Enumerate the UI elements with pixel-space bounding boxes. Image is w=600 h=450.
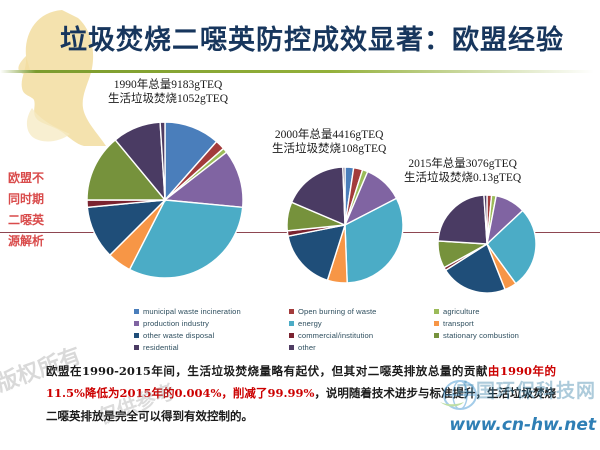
page-title: 垃圾焚烧二噁英防控成效显著：欧盟经验 — [60, 18, 564, 57]
left-label-line-4: 源解析 — [8, 231, 70, 252]
legend-column-3: agriculturetransportstationary combustio… — [434, 305, 584, 342]
legend-column-2: Open burning of wasteenergycommercial/in… — [289, 305, 439, 354]
legend-swatch-icon — [289, 333, 294, 338]
legend-item-label: other waste disposal — [143, 331, 214, 340]
chart-legend: municipal waste incinerationproduction i… — [134, 305, 584, 357]
legend-swatch-icon — [289, 321, 294, 326]
legend-item: residential — [134, 342, 294, 354]
pie-chart-1990 — [86, 121, 244, 279]
chart1-caption-line1: 1990年总量9183gTEQ — [108, 78, 228, 92]
pie-svg — [286, 166, 404, 284]
chart1-caption: 1990年总量9183gTEQ 生活垃圾焚烧1052gTEQ — [108, 78, 228, 107]
legend-item-label: Open burning of waste — [298, 307, 377, 316]
slide-canvas: 垃圾焚烧二噁英防控成效显著：欧盟经验 1990年总量9183gTEQ 生活垃圾焚… — [0, 0, 600, 450]
legend-item: production industry — [134, 317, 294, 329]
legend-item: municipal waste incineration — [134, 305, 294, 317]
legend-swatch-icon — [434, 333, 439, 338]
legend-item: transport — [434, 317, 584, 329]
chart2-caption-line1: 2000年总量4416gTEQ — [272, 128, 386, 142]
legend-item: other — [289, 342, 439, 354]
legend-item: other waste disposal — [134, 329, 294, 341]
legend-item-label: agriculture — [443, 307, 480, 316]
left-label-line-2: 同时期 — [8, 189, 70, 210]
chart3-caption: 2015年总量3076gTEQ 生活垃圾焚烧0.13gTEQ — [404, 157, 521, 186]
chart3-caption-line1: 2015年总量3076gTEQ — [404, 157, 521, 171]
chart2-caption: 2000年总量4416gTEQ 生活垃圾焚烧108gTEQ — [272, 128, 386, 157]
pie-chart-2015 — [437, 194, 537, 294]
pie-slice — [438, 195, 487, 244]
legend-swatch-icon — [434, 321, 439, 326]
legend-swatch-icon — [289, 309, 294, 314]
legend-swatch-icon — [134, 321, 139, 326]
left-label-line-1: 欧盟不 — [8, 168, 70, 189]
legend-swatch-icon — [434, 309, 439, 314]
legend-item-label: residential — [143, 343, 179, 352]
legend-item-label: commercial/institution — [298, 331, 373, 340]
legend-item: stationary combustion — [434, 329, 584, 341]
legend-column-1: municipal waste incinerationproduction i… — [134, 305, 294, 354]
summary-paragraph: 欧盟在1990-2015年间，生活垃圾焚烧量略有起伏，但其对二噁英排放总量的贡献… — [46, 360, 556, 427]
left-side-label: 欧盟不 同时期 二噁英 源解析 — [8, 168, 70, 252]
pie-chart-2000 — [286, 166, 404, 284]
legend-item: energy — [289, 317, 439, 329]
legend-swatch-icon — [289, 345, 294, 350]
chart3-caption-line2: 生活垃圾焚烧0.13gTEQ — [404, 171, 521, 185]
legend-item: Open burning of waste — [289, 305, 439, 317]
chart2-caption-line2: 生活垃圾焚烧108gTEQ — [272, 142, 386, 156]
legend-item-label: stationary combustion — [443, 331, 519, 340]
chart1-caption-line2: 生活垃圾焚烧1052gTEQ — [108, 92, 228, 106]
legend-item: commercial/institution — [289, 329, 439, 341]
summary-part1: 欧盟在1990-2015年间，生活垃圾焚烧量略有起伏，但其对二噁英排放总量的贡献 — [46, 364, 488, 378]
left-label-line-3: 二噁英 — [8, 210, 70, 231]
legend-swatch-icon — [134, 333, 139, 338]
legend-item-label: energy — [298, 319, 322, 328]
pie-svg — [437, 194, 537, 294]
legend-swatch-icon — [134, 309, 139, 314]
legend-swatch-icon — [134, 345, 139, 350]
legend-item: agriculture — [434, 305, 584, 317]
legend-item-label: production industry — [143, 319, 209, 328]
title-area: 垃圾焚烧二噁英防控成效显著：欧盟经验 — [0, 8, 600, 63]
legend-item-label: transport — [443, 319, 474, 328]
pie-svg — [86, 121, 244, 279]
legend-item-label: other — [298, 343, 316, 352]
title-divider — [0, 70, 600, 73]
legend-item-label: municipal waste incineration — [143, 307, 241, 316]
